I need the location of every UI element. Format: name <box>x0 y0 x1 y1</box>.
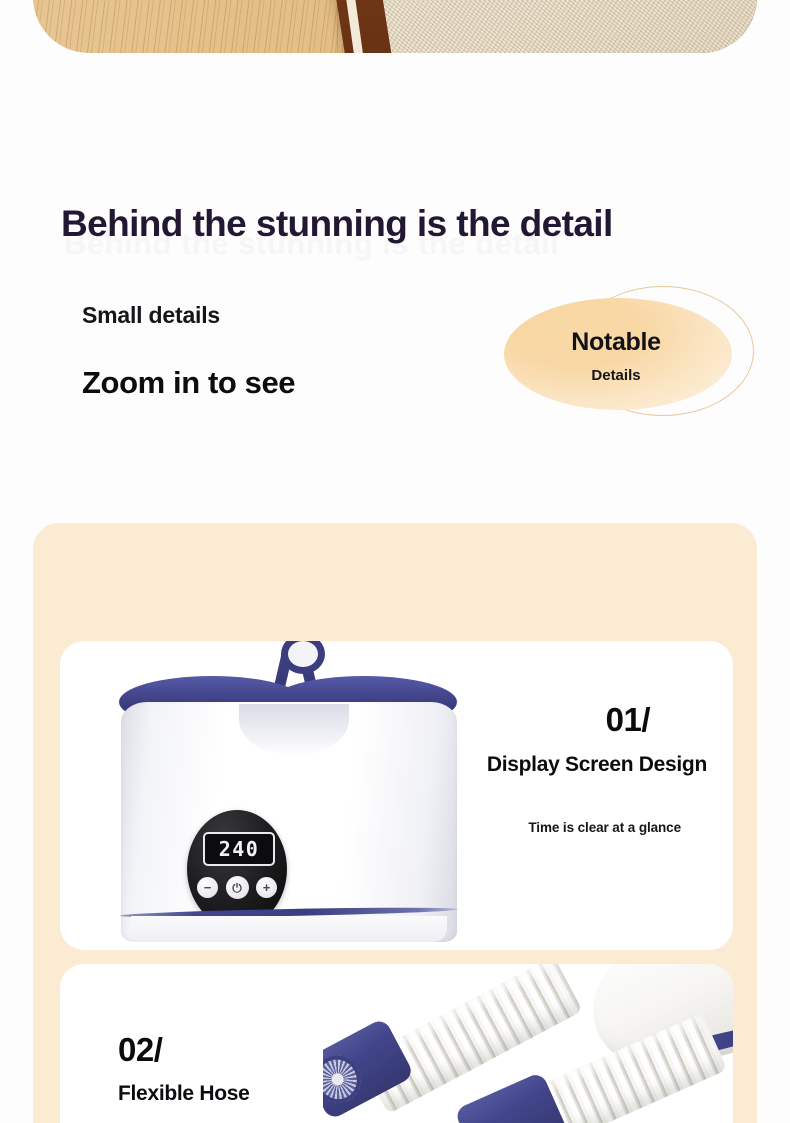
nozzle-fan-grille <box>323 1047 369 1111</box>
device-base <box>131 916 447 942</box>
device-body-contour <box>239 704 349 756</box>
feature-02-number: 02/ <box>118 1031 162 1069</box>
badge-title: Notable <box>500 328 732 357</box>
lcd-value: 240 <box>205 834 273 864</box>
feature-01-number: 01/ <box>606 701 650 739</box>
notable-details-badge: Notable Details <box>500 286 760 426</box>
hero-photo <box>33 0 757 53</box>
subhead-large: Zoom in to see <box>82 365 295 401</box>
control-button-row: − ⏻ + <box>197 876 277 899</box>
minus-button[interactable]: − <box>197 877 218 898</box>
plus-button[interactable]: + <box>256 877 277 898</box>
rug-image <box>310 0 757 53</box>
handle-ring <box>281 641 325 674</box>
flexible-hose-image <box>323 964 733 1123</box>
feature-01-note: Time is clear at a glance <box>528 820 681 835</box>
fan-hub <box>329 1071 345 1087</box>
air-pump-device-image: 240 − ⏻ + <box>105 641 475 950</box>
badge-subtitle: Details <box>500 367 732 384</box>
rug-texture <box>356 0 757 53</box>
feature-card-01: 240 − ⏻ + 01/ Display Screen Design Time… <box>60 641 733 950</box>
subhead-small: Small details <box>82 302 220 329</box>
feature-01-title: Display Screen Design <box>487 753 707 777</box>
power-button[interactable]: ⏻ <box>226 876 249 899</box>
page-headline: Behind the stunning is the detail <box>61 203 613 245</box>
lcd-screen: 240 <box>203 832 275 866</box>
feature-card-02: 02/ Flexible Hose <box>60 964 733 1123</box>
device-body: 240 − ⏻ + <box>121 702 457 942</box>
feature-02-title: Flexible Hose <box>118 1082 249 1106</box>
